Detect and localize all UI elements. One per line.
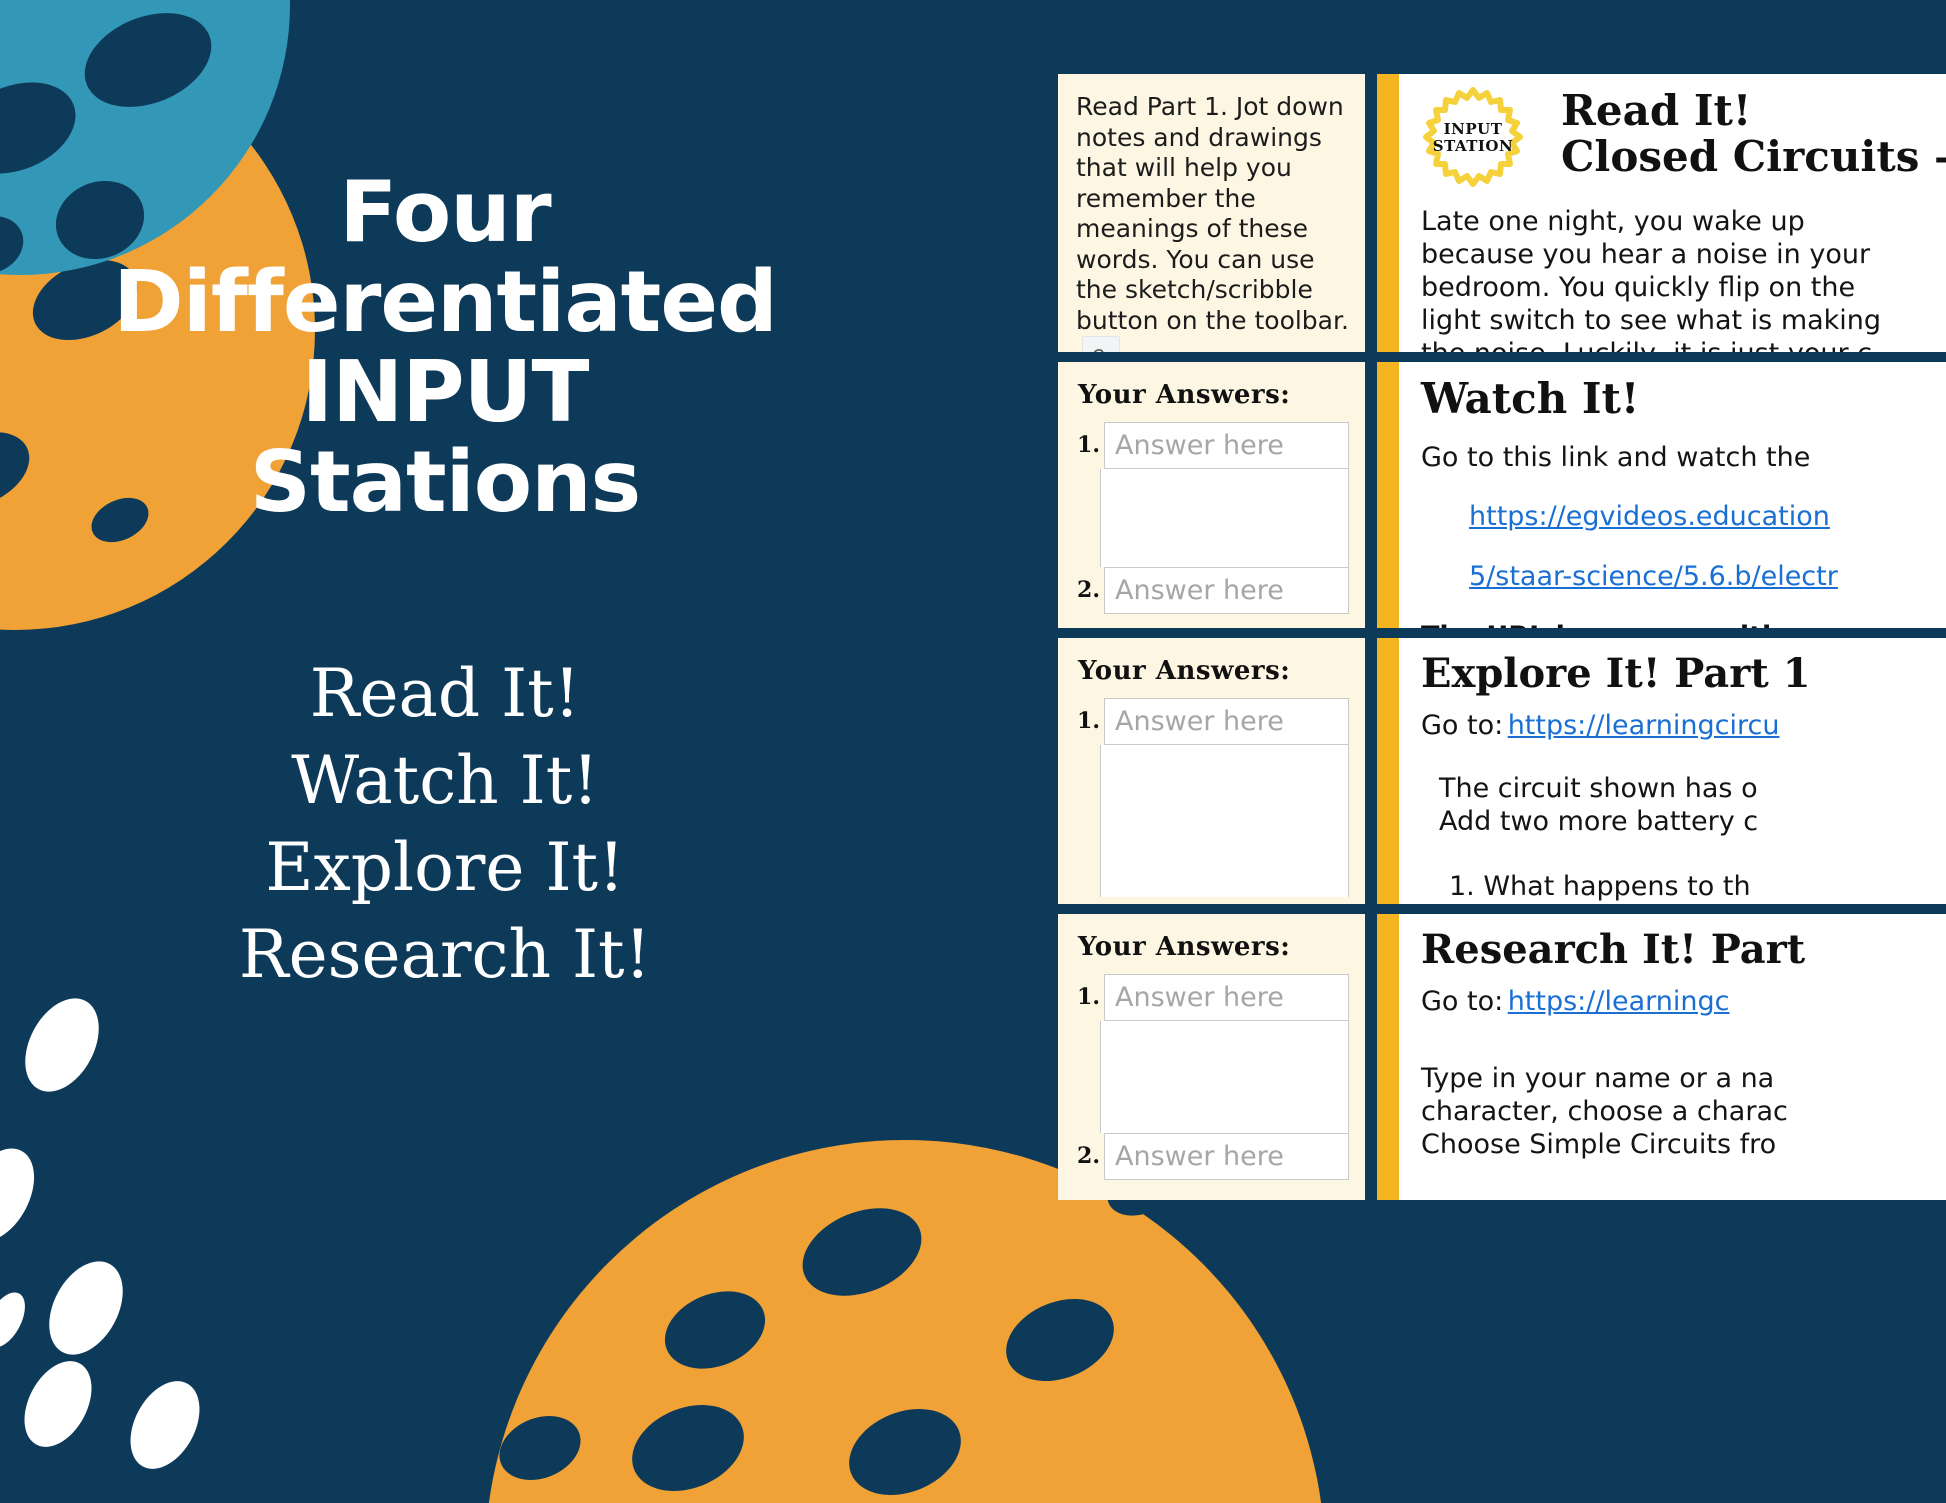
card-gutter: [1365, 914, 1377, 1200]
research-it-body-line-3: Choose Simple Circuits fro: [1421, 1129, 1930, 1162]
research-it-goto-row: Go to: https://learningc: [1421, 986, 1930, 1019]
answer-row: 2. Answer here: [1076, 567, 1349, 614]
answer-input-2[interactable]: Answer here: [1104, 567, 1349, 614]
explore-it-right-pane: Explore It! Part 1 Go to: https://learni…: [1399, 638, 1946, 904]
answer-input-1[interactable]: Answer here: [1104, 422, 1349, 469]
watch-it-heading: Watch It!: [1421, 376, 1930, 422]
answer-row: 1. Answer here: [1076, 974, 1349, 1021]
answer-number: 2.: [1076, 1133, 1104, 1169]
card-gutter: [1365, 362, 1377, 628]
watch-it-case-sensitive-note: The URL is case-sensitive.: [1421, 621, 1930, 628]
research-it-answers-heading: Your Answers:: [1078, 932, 1349, 962]
answer-row: 1. Answer here: [1076, 422, 1349, 469]
watch-it-link-line-1[interactable]: https://egvideos.education: [1469, 501, 1930, 534]
page-title: Four Differentiated INPUT Stations: [0, 168, 890, 528]
station-list-item-explore: Explore It!: [0, 824, 890, 911]
card-explore-it[interactable]: Your Answers: 1. Answer here Explore It!…: [1058, 638, 1946, 904]
card-read-it[interactable]: Read Part 1. Jot down notes and drawings…: [1058, 74, 1946, 352]
explore-it-goto-label: Go to:: [1421, 710, 1503, 741]
answer-input-1[interactable]: Answer here: [1104, 974, 1349, 1021]
document-preview-stack: Read Part 1. Jot down notes and drawings…: [890, 0, 1946, 1503]
research-it-link[interactable]: https://learningc: [1508, 986, 1730, 1017]
card-gutter: [1365, 74, 1377, 352]
answer-number: 2.: [1076, 567, 1104, 603]
watch-it-answers-heading: Your Answers:: [1078, 380, 1349, 410]
scribble-icon[interactable]: [1082, 336, 1120, 352]
read-it-heading-line-2: Closed Circuits –: [1561, 134, 1930, 180]
read-it-heading-line-1: Read It!: [1561, 88, 1930, 134]
explore-it-answers-heading: Your Answers:: [1078, 656, 1349, 686]
answer-input-1[interactable]: Answer here: [1104, 698, 1349, 745]
read-it-body-line-3: bedroom. You quickly flip on the: [1421, 272, 1930, 305]
answer-number: 1.: [1076, 422, 1104, 458]
read-it-body-line-2: because you hear a noise in your: [1421, 239, 1930, 272]
card-watch-it[interactable]: Your Answers: 1. Answer here 2. Answer h…: [1058, 362, 1946, 628]
answer-row: 1. Answer here: [1076, 698, 1349, 745]
watch-it-left-pane: Your Answers: 1. Answer here 2. Answer h…: [1058, 362, 1365, 628]
read-it-left-pane: Read Part 1. Jot down notes and drawings…: [1058, 74, 1365, 352]
explore-it-heading: Explore It! Part 1: [1421, 652, 1930, 696]
watch-it-right-pane: Watch It! Go to this link and watch the …: [1399, 362, 1946, 628]
answer-number: 1.: [1076, 698, 1104, 734]
answer-overflow-area[interactable]: [1100, 469, 1349, 567]
answer-overflow-area[interactable]: [1100, 1021, 1349, 1133]
title-line-3: INPUT: [0, 348, 890, 438]
title-line-2: Differentiated: [0, 258, 890, 348]
explore-it-goto-row: Go to: https://learningcircu: [1421, 710, 1930, 743]
station-list: Read It! Watch It! Explore It! Research …: [0, 650, 890, 998]
title-line-4: Stations: [0, 438, 890, 528]
answer-overflow-area[interactable]: [1100, 745, 1349, 897]
explore-it-body-line-1: The circuit shown has o: [1439, 773, 1930, 806]
seal-line-2: STATION: [1433, 138, 1513, 155]
station-list-item-watch: Watch It!: [0, 737, 890, 824]
promo-panel: Four Differentiated INPUT Stations Read …: [0, 0, 890, 1503]
answer-row: 2. Answer here: [1076, 1133, 1349, 1180]
card-research-it[interactable]: Your Answers: 1. Answer here 2. Answer h…: [1058, 914, 1946, 1200]
explore-it-link[interactable]: https://learningcircu: [1508, 710, 1780, 741]
research-it-right-pane: Research It! Part Go to: https://learnin…: [1399, 914, 1946, 1200]
title-line-1: Four: [0, 168, 890, 258]
research-it-body-line-2: character, choose a charac: [1421, 1096, 1930, 1129]
research-it-heading: Research It! Part: [1421, 928, 1930, 972]
read-it-right-pane: INPUT STATION Read It! Closed Circuits –…: [1399, 74, 1946, 352]
watch-it-link-line-2[interactable]: 5/staar-science/5.6.b/electr: [1469, 561, 1930, 594]
read-it-body-line-4: light switch to see what is making: [1421, 305, 1930, 338]
research-it-left-pane: Your Answers: 1. Answer here 2. Answer h…: [1058, 914, 1365, 1200]
read-it-body: Late one night, you wake up because you …: [1421, 206, 1930, 352]
read-it-body-line-5: the noise. Luckily, it is just your c: [1421, 338, 1930, 352]
accent-bar: [1377, 914, 1399, 1200]
explore-it-left-pane: Your Answers: 1. Answer here: [1058, 638, 1365, 904]
read-it-instructions: Read Part 1. Jot down notes and drawings…: [1076, 92, 1349, 336]
answer-input-2[interactable]: Answer here: [1104, 1133, 1349, 1180]
watch-it-body-line-1: Go to this link and watch the: [1421, 442, 1930, 475]
read-it-body-line-1: Late one night, you wake up: [1421, 206, 1930, 239]
input-station-seal-icon: INPUT STATION: [1421, 86, 1525, 190]
accent-bar: [1377, 362, 1399, 628]
seal-line-1: INPUT: [1444, 121, 1503, 138]
explore-it-question-1: 1. What happens to th: [1449, 871, 1930, 904]
research-it-body-line-1: Type in your name or a na: [1421, 1063, 1930, 1096]
station-list-item-research: Research It!: [0, 911, 890, 998]
read-it-heading: Read It! Closed Circuits –: [1561, 88, 1930, 180]
research-it-goto-label: Go to:: [1421, 986, 1503, 1017]
accent-bar: [1377, 638, 1399, 904]
accent-bar: [1377, 74, 1399, 352]
explore-it-body-line-2: Add two more battery c: [1439, 806, 1930, 839]
station-list-item-read: Read It!: [0, 650, 890, 737]
card-gutter: [1365, 638, 1377, 904]
answer-number: 1.: [1076, 974, 1104, 1010]
